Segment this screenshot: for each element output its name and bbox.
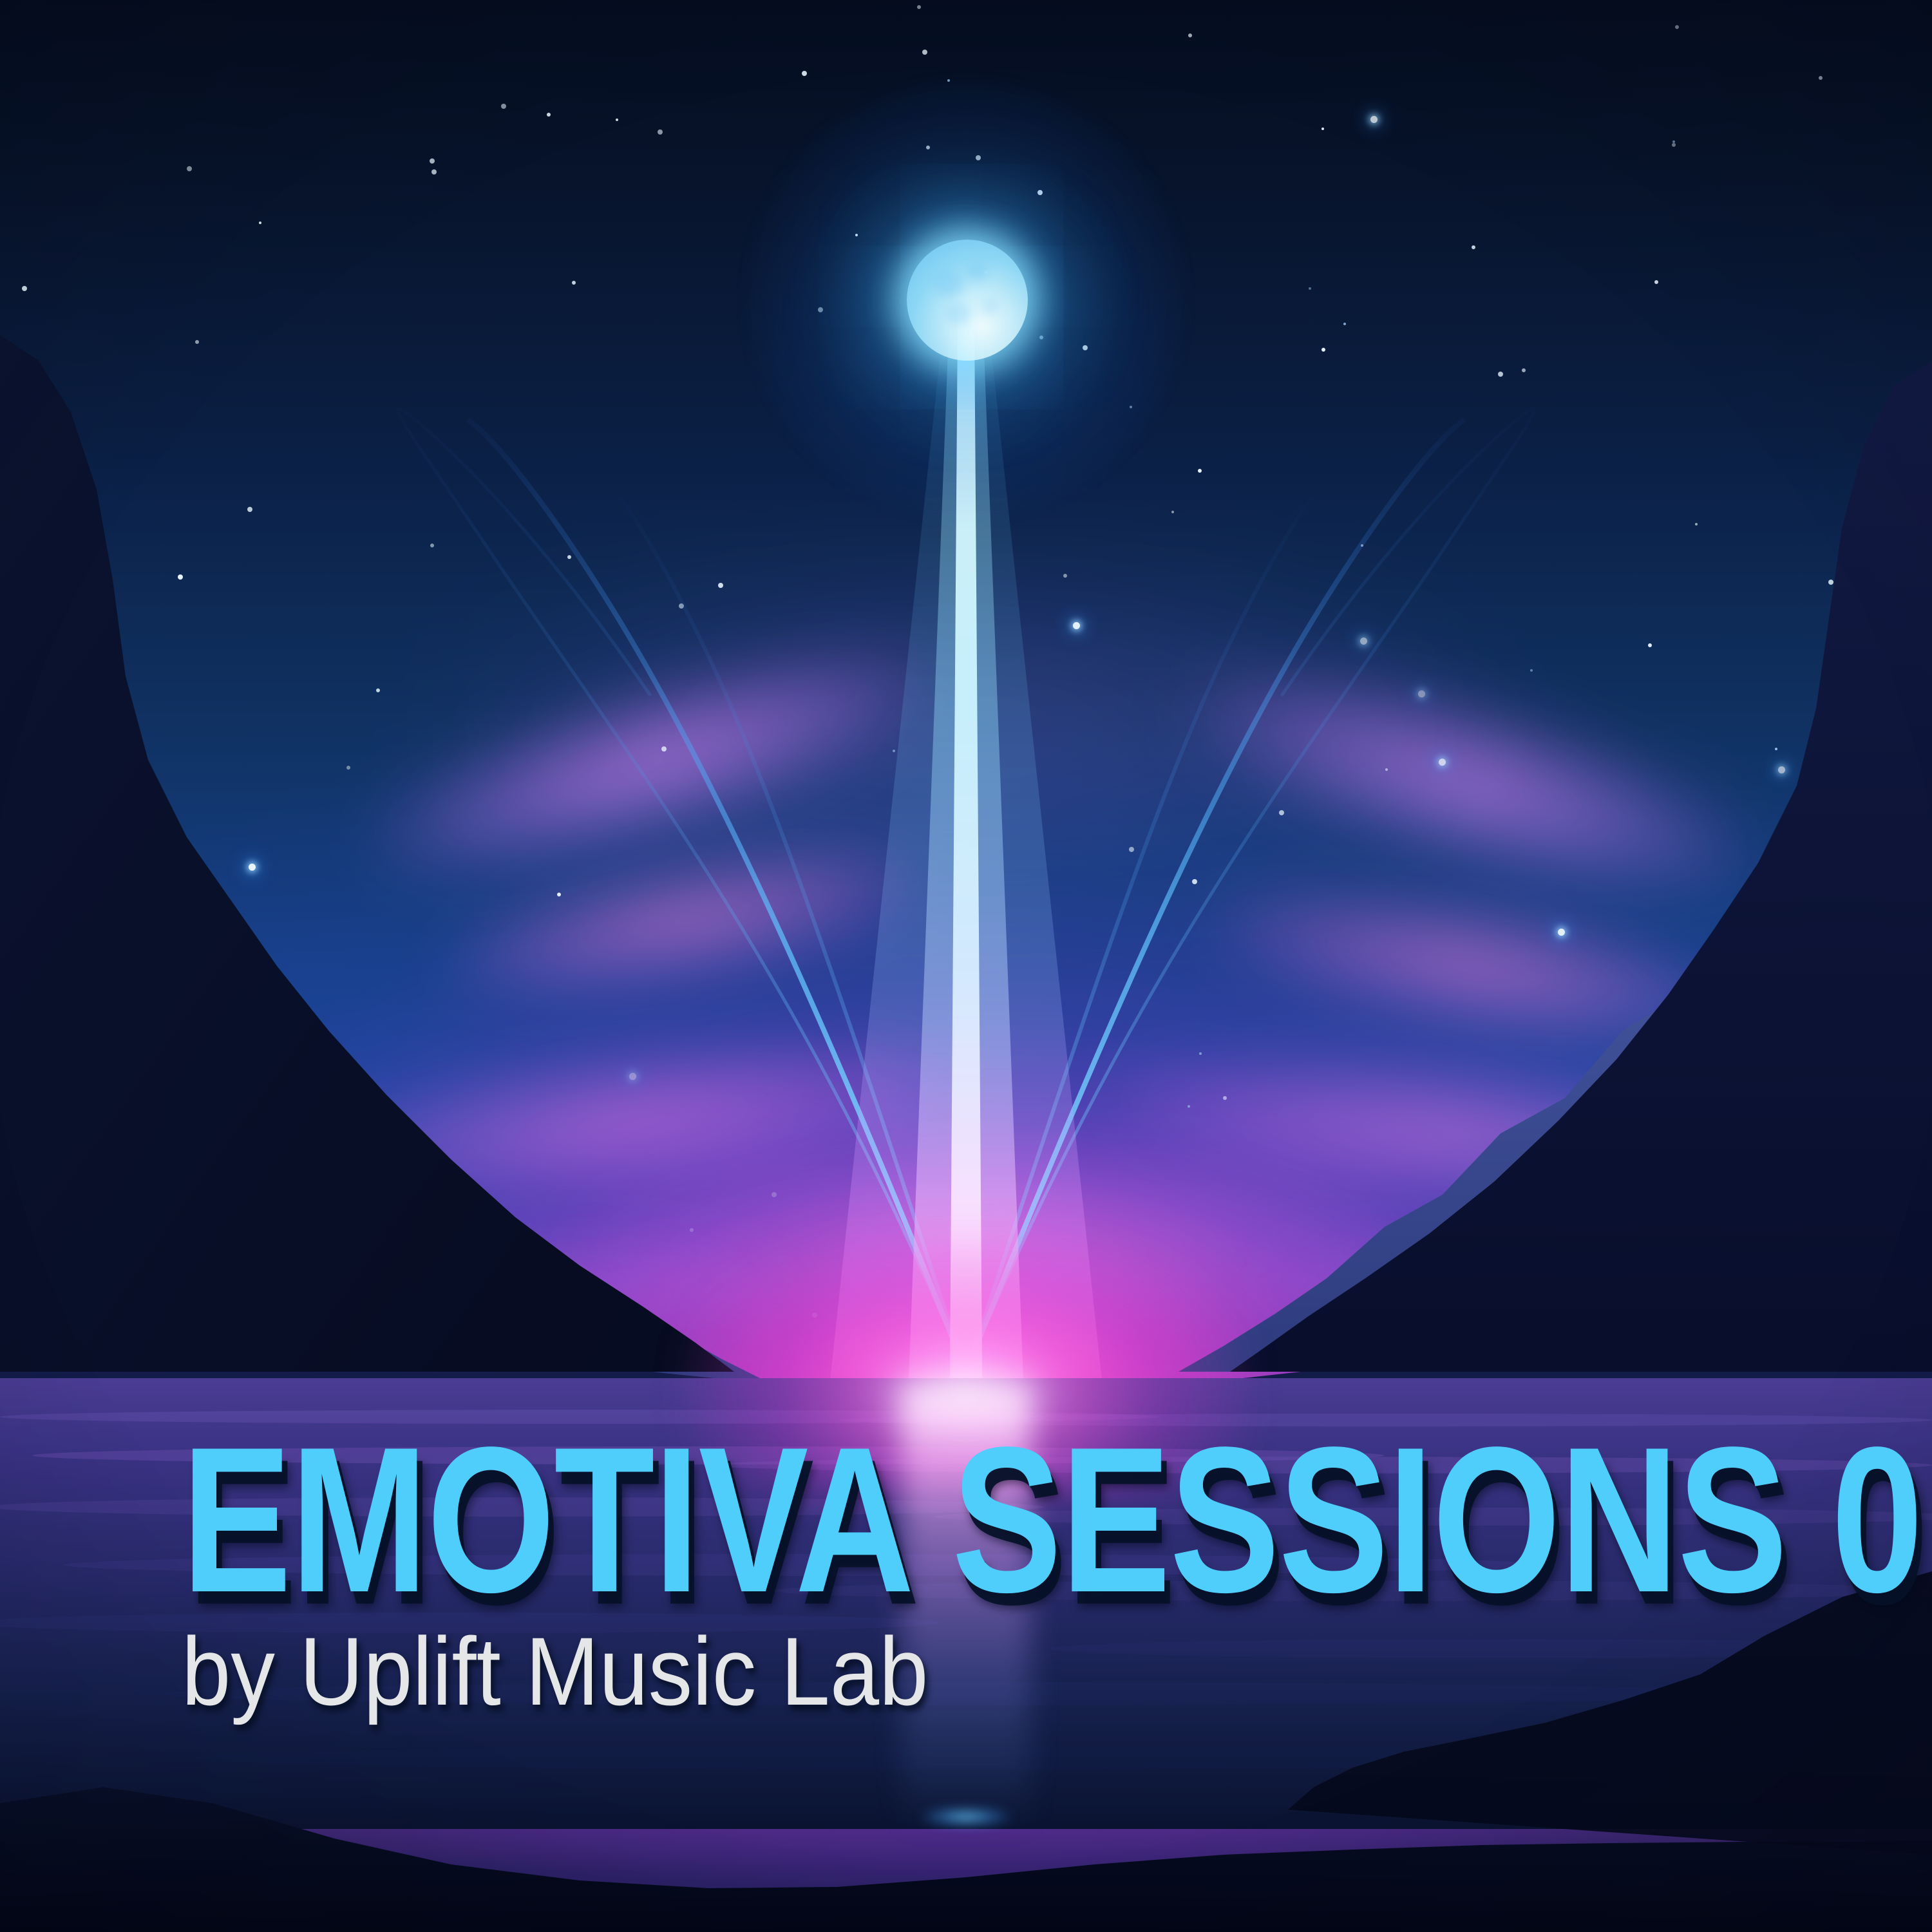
- album-title: EMOTIVA SESSIONS 01: [182, 1437, 1513, 1604]
- album-cover: EMOTIVA SESSIONS 01 by Uplift Music Lab: [0, 0, 1932, 1932]
- album-artist: by Uplift Music Lab: [182, 1604, 1714, 1719]
- title-block: EMOTIVA SESSIONS 01 by Uplift Music Lab: [182, 1437, 1856, 1719]
